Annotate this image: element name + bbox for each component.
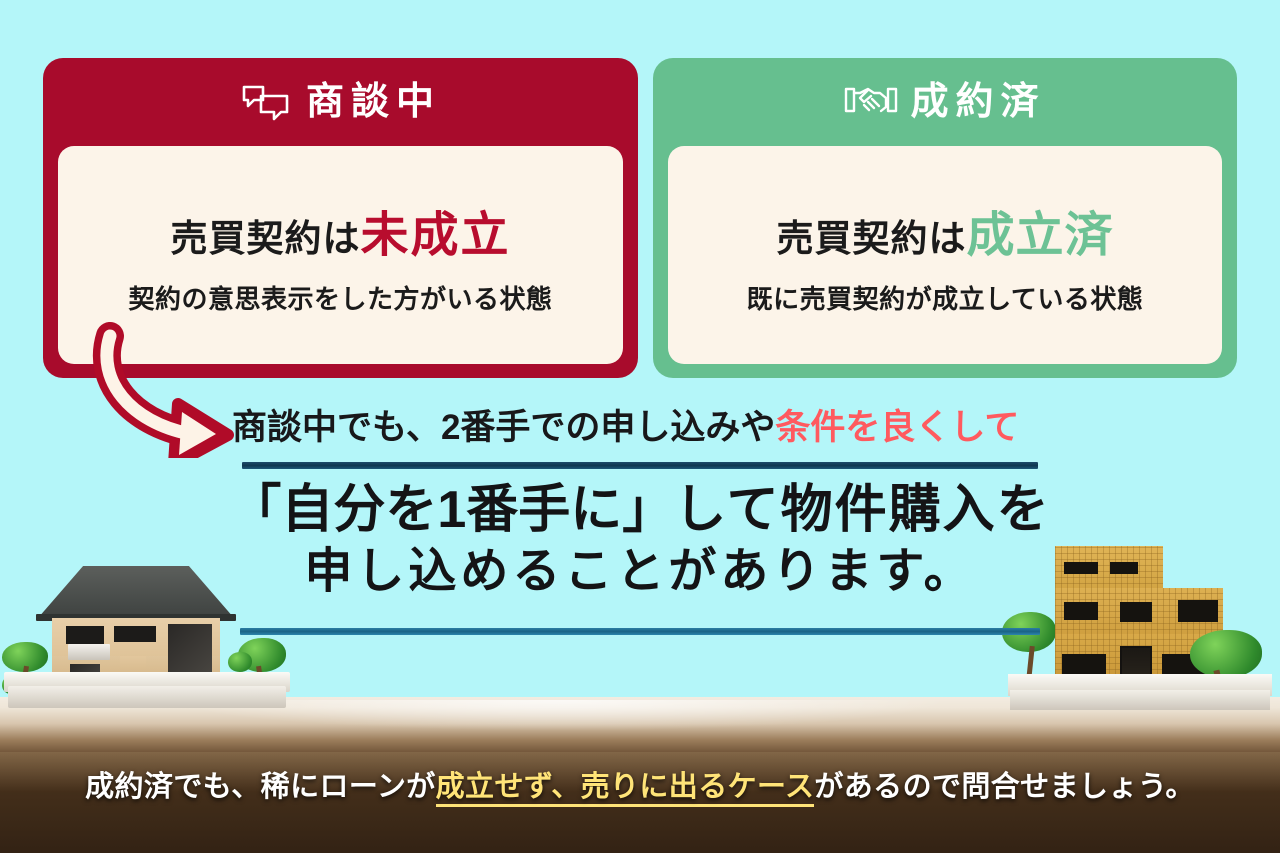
card-negotiating-status-line: 売買契約は未成立: [170, 195, 510, 265]
mid-description-line: 商談中でも、2番手での申し込みや条件を良くして: [232, 398, 1052, 450]
caption-part1: 成約済でも、稀にローンが: [85, 771, 435, 803]
headline-line-1: 「自分を1番手に」して物件購入を: [0, 480, 1280, 541]
headline-line-2: 申し込めることがあります。: [0, 541, 1280, 603]
headline-quoted-phrase: 「自分を1番手に」: [229, 481, 674, 539]
mid-text-part1: 商談中でも、2番手での申し込みや: [232, 399, 775, 450]
card-contracted-status-line: 売買契約は成立済: [776, 195, 1113, 265]
tree-icon: [1002, 612, 1058, 682]
building-window: [1064, 602, 1098, 620]
building-window: [1120, 602, 1152, 622]
divider-top: [242, 462, 1038, 469]
status-prefix: 売買契約は: [170, 218, 360, 259]
caption-part2: があるので問合せましょう。: [814, 771, 1194, 803]
card-negotiating-title: 商談中: [306, 83, 441, 121]
house-base-plate: [8, 686, 286, 708]
card-contracted-title: 成約済: [910, 83, 1045, 121]
card-negotiating-description: 契約の意思表示をした方がいる状態: [128, 279, 552, 316]
card-contracted-description: 既に売買契約が成立している状態: [747, 279, 1144, 316]
status-prefix: 売買契約は: [776, 218, 966, 259]
building-base-plate: [1010, 690, 1270, 710]
page-headline: 「自分を1番手に」して物件購入を 申し込めることがあります。: [0, 480, 1280, 604]
slide-canvas: 商談中 売買契約は未成立 契約の意思表示をした方がいる状態: [0, 0, 1280, 853]
caption-highlight: 成立せず、売りに出るケース: [436, 771, 815, 807]
card-contracted-header: 成約済: [653, 58, 1237, 146]
house-window: [66, 626, 104, 644]
handshake-icon: [844, 83, 896, 121]
mid-text-accent: 条件を良くして: [775, 399, 1019, 450]
house-window: [114, 626, 156, 642]
divider-bottom: [240, 628, 1040, 635]
curved-arrow-down-right-icon: [78, 318, 258, 458]
house-balcony: [68, 644, 110, 660]
headline-line1-rest: して物件購入を: [674, 481, 1050, 539]
bottom-caption: 成約済でも、稀にローンが成立せず、売りに出るケースがあるので問合せましょう。: [0, 763, 1280, 805]
status-accent: 未成立: [360, 209, 510, 262]
card-contracted-body: 売買契約は成立済 既に売買契約が成立している状態: [668, 146, 1222, 364]
speech-bubbles-icon: [240, 83, 292, 121]
status-accent: 成立済: [966, 209, 1113, 262]
card-contracted[interactable]: 成約済 売買契約は成立済 既に売買契約が成立している状態: [653, 58, 1237, 378]
card-negotiating-header: 商談中: [43, 58, 638, 146]
